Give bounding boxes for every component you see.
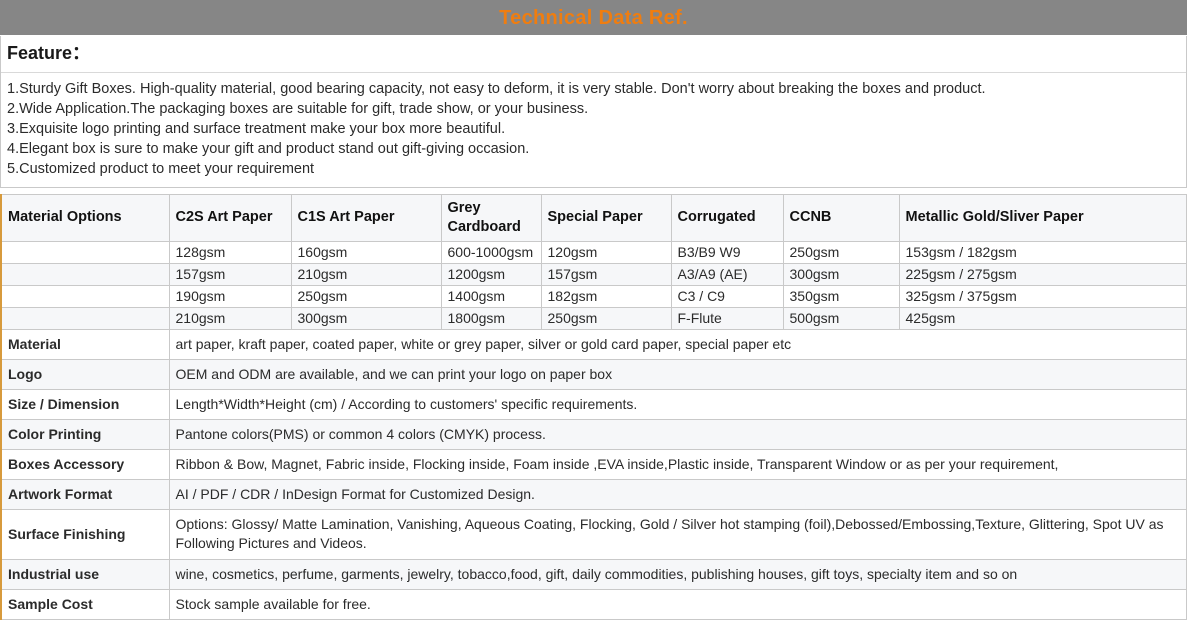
cell-material-options (1, 263, 169, 285)
spec-value: OEM and ODM are available, and we can pr… (169, 359, 1186, 389)
material-header-row: Material Options C2S Art Paper C1S Art P… (1, 194, 1186, 241)
feature-item: 4.Elegant box is sure to make your gift … (7, 139, 1180, 159)
spec-row-industrial-use: Industrial use wine, cosmetics, perfume,… (1, 559, 1186, 589)
cell-grey-cardboard: 600-1000gsm (441, 241, 541, 263)
spec-row-logo: Logo OEM and ODM are available, and we c… (1, 359, 1186, 389)
cell-grey-cardboard: 1800gsm (441, 307, 541, 329)
cell-material-options (1, 285, 169, 307)
column-header-ccnb: CCNB (783, 194, 899, 241)
feature-item: 2.Wide Application.The packaging boxes a… (7, 99, 1180, 119)
cell-c2s: 128gsm (169, 241, 291, 263)
spec-row-size-dimension: Size / Dimension Length*Width*Height (cm… (1, 389, 1186, 419)
column-header-grey-cardboard: Grey Cardboard (441, 194, 541, 241)
cell-material-options (1, 307, 169, 329)
column-header-corrugated: Corrugated (671, 194, 783, 241)
spec-value: Pantone colors(PMS) or common 4 colors (… (169, 419, 1186, 449)
table-row: 157gsm 210gsm 1200gsm 157gsm A3/A9 (AE) … (1, 263, 1186, 285)
spec-label: Logo (1, 359, 169, 389)
cell-ccnb: 500gsm (783, 307, 899, 329)
spec-label: Sample Cost (1, 589, 169, 619)
spec-value: Length*Width*Height (cm) / According to … (169, 389, 1186, 419)
spec-row-sample-cost: Sample Cost Stock sample available for f… (1, 589, 1186, 619)
cell-special-paper: 182gsm (541, 285, 671, 307)
feature-section: Feature： 1.Sturdy Gift Boxes. High-quali… (0, 36, 1187, 188)
cell-grey-cardboard: 1200gsm (441, 263, 541, 285)
cell-metallic: 325gsm / 375gsm (899, 285, 1186, 307)
page-title: Technical Data Ref. (499, 8, 688, 28)
column-header-c1s-art-paper: C1S Art Paper (291, 194, 441, 241)
spec-label: Artwork Format (1, 479, 169, 509)
spec-value: Ribbon & Bow, Magnet, Fabric inside, Flo… (169, 449, 1186, 479)
spec-value: wine, cosmetics, perfume, garments, jewe… (169, 559, 1186, 589)
spec-value: Options: Glossy/ Matte Lamination, Vanis… (169, 509, 1186, 559)
spec-row-boxes-accessory: Boxes Accessory Ribbon & Bow, Magnet, Fa… (1, 449, 1186, 479)
spec-label: Boxes Accessory (1, 449, 169, 479)
cell-metallic: 425gsm (899, 307, 1186, 329)
cell-corrugated: A3/A9 (AE) (671, 263, 783, 285)
spec-label: Material (1, 329, 169, 359)
cell-corrugated: B3/B9 W9 (671, 241, 783, 263)
feature-item: 5.Customized product to meet your requir… (7, 159, 1180, 179)
cell-c1s: 210gsm (291, 263, 441, 285)
specification-table: Material Options C2S Art Paper C1S Art P… (0, 194, 1187, 620)
cell-special-paper: 120gsm (541, 241, 671, 263)
cell-material-options (1, 241, 169, 263)
column-header-metallic-paper: Metallic Gold/Sliver Paper (899, 194, 1186, 241)
feature-item: 1.Sturdy Gift Boxes. High-quality materi… (7, 79, 1180, 99)
cell-ccnb: 250gsm (783, 241, 899, 263)
cell-c1s: 250gsm (291, 285, 441, 307)
cell-ccnb: 350gsm (783, 285, 899, 307)
feature-heading: Feature： (1, 36, 1186, 73)
spec-row-material: Material art paper, kraft paper, coated … (1, 329, 1186, 359)
spec-label: Surface Finishing (1, 509, 169, 559)
cell-corrugated: F-Flute (671, 307, 783, 329)
spec-row-color-printing: Color Printing Pantone colors(PMS) or co… (1, 419, 1186, 449)
cell-corrugated: C3 / C9 (671, 285, 783, 307)
cell-grey-cardboard: 1400gsm (441, 285, 541, 307)
cell-ccnb: 300gsm (783, 263, 899, 285)
table-row: 128gsm 160gsm 600-1000gsm 120gsm B3/B9 W… (1, 241, 1186, 263)
column-header-special-paper: Special Paper (541, 194, 671, 241)
spec-value: art paper, kraft paper, coated paper, wh… (169, 329, 1186, 359)
table-row: 210gsm 300gsm 1800gsm 250gsm F-Flute 500… (1, 307, 1186, 329)
spec-row-surface-finishing: Surface Finishing Options: Glossy/ Matte… (1, 509, 1186, 559)
spec-label: Size / Dimension (1, 389, 169, 419)
spec-row-artwork-format: Artwork Format AI / PDF / CDR / InDesign… (1, 479, 1186, 509)
cell-metallic: 225gsm / 275gsm (899, 263, 1186, 285)
cell-c1s: 160gsm (291, 241, 441, 263)
technical-data-sheet: Technical Data Ref. Feature： 1.Sturdy Gi… (0, 0, 1187, 620)
cell-c2s: 190gsm (169, 285, 291, 307)
cell-c2s: 157gsm (169, 263, 291, 285)
cell-c1s: 300gsm (291, 307, 441, 329)
table-row: 190gsm 250gsm 1400gsm 182gsm C3 / C9 350… (1, 285, 1186, 307)
spec-value: Stock sample available for free. (169, 589, 1186, 619)
spec-value: AI / PDF / CDR / InDesign Format for Cus… (169, 479, 1186, 509)
cell-metallic: 153gsm / 182gsm (899, 241, 1186, 263)
column-header-material-options: Material Options (1, 194, 169, 241)
cell-special-paper: 250gsm (541, 307, 671, 329)
spec-label: Color Printing (1, 419, 169, 449)
feature-item: 3.Exquisite logo printing and surface tr… (7, 119, 1180, 139)
column-header-c2s-art-paper: C2S Art Paper (169, 194, 291, 241)
spec-label: Industrial use (1, 559, 169, 589)
title-bar: Technical Data Ref. (0, 0, 1187, 36)
feature-list: 1.Sturdy Gift Boxes. High-quality materi… (1, 73, 1186, 187)
cell-c2s: 210gsm (169, 307, 291, 329)
cell-special-paper: 157gsm (541, 263, 671, 285)
